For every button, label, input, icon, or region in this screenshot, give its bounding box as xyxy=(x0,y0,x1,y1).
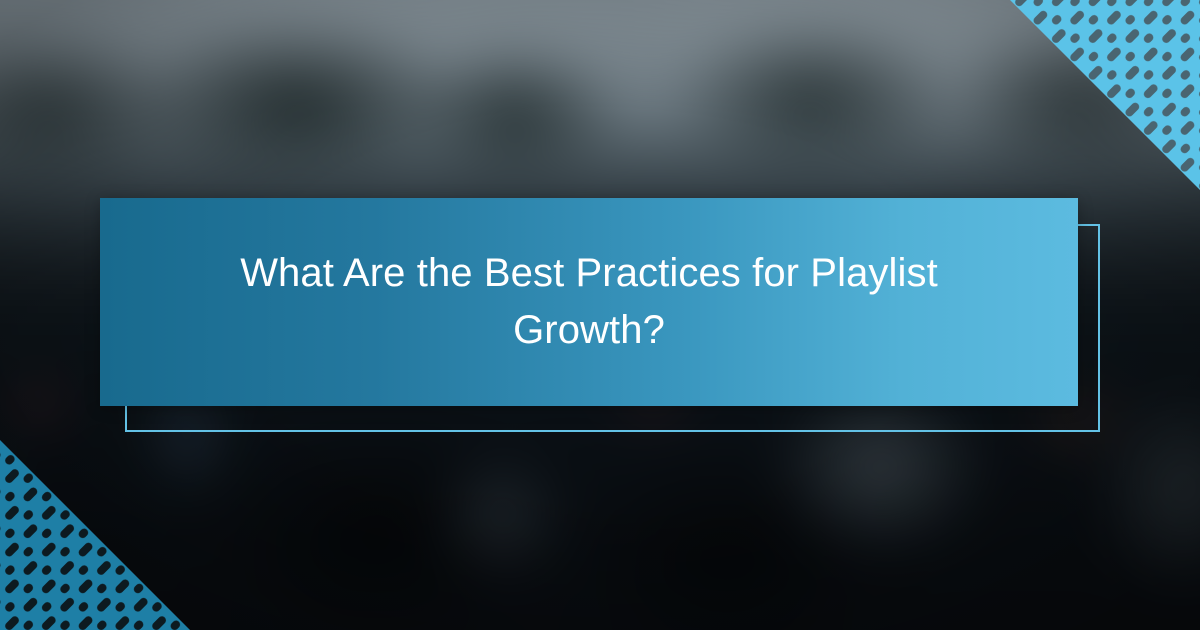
og-card-canvas: What Are the Best Practices for Playlist… xyxy=(0,0,1200,630)
title-card: What Are the Best Practices for Playlist… xyxy=(100,198,1078,406)
page-title: What Are the Best Practices for Playlist… xyxy=(194,245,984,359)
